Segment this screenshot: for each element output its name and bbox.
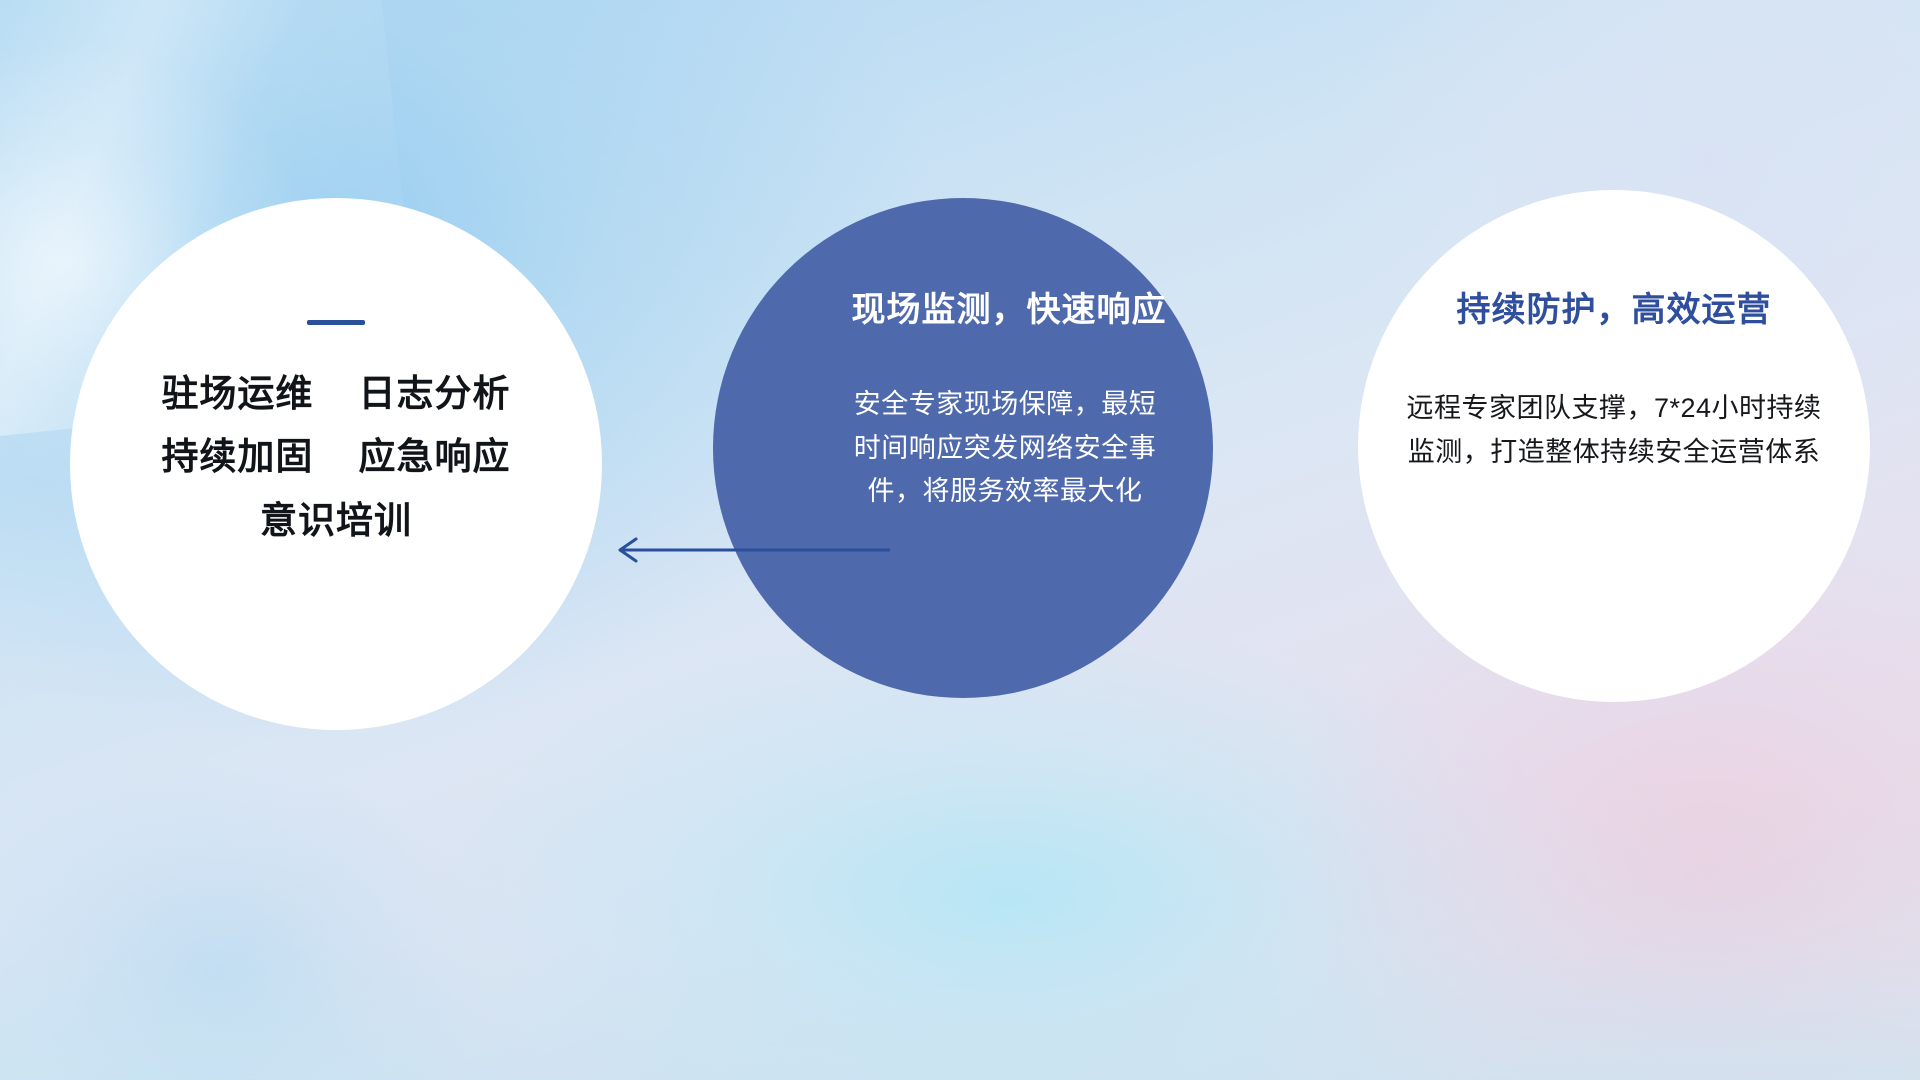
left-circle-line-1: 驻场运维 日志分析 <box>161 373 510 414</box>
right-circle-title: 持续防护，高效运营 <box>1457 282 1772 331</box>
background-bottom-band <box>0 780 1920 1080</box>
slide-canvas: 驻场运维 日志分析 持续加固 应急响应 意识培训 现场监测，快速响应 安全专家现… <box>0 0 1920 1080</box>
right-circle-body: 远程专家团队支撑，7*24小时持续监测，打造整体持续安全运营体系 <box>1404 387 1824 474</box>
middle-circle-body: 安全专家现场保障，最短时间响应突发网络安全事件，将服务效率最大化 <box>850 383 1160 514</box>
right-white-circle[interactable]: 持续防护，高效运营 远程专家团队支撑，7*24小时持续监测，打造整体持续安全运营… <box>1358 190 1870 702</box>
divider-dash-icon <box>307 320 365 325</box>
left-content-circle[interactable]: 驻场运维 日志分析 持续加固 应急响应 意识培训 <box>70 198 602 730</box>
left-arrow-icon <box>600 520 900 580</box>
middle-circle-title: 现场监测，快速响应 <box>852 282 1167 331</box>
middle-blue-circle[interactable]: 现场监测，快速响应 安全专家现场保障，最短时间响应突发网络安全事件，将服务效率最… <box>713 198 1213 698</box>
left-circle-line-2: 持续加固 应急响应 <box>161 436 510 477</box>
left-circle-line-list: 驻场运维 日志分析 持续加固 应急响应 意识培训 <box>161 373 510 541</box>
left-circle-line-3: 意识培训 <box>260 500 412 541</box>
